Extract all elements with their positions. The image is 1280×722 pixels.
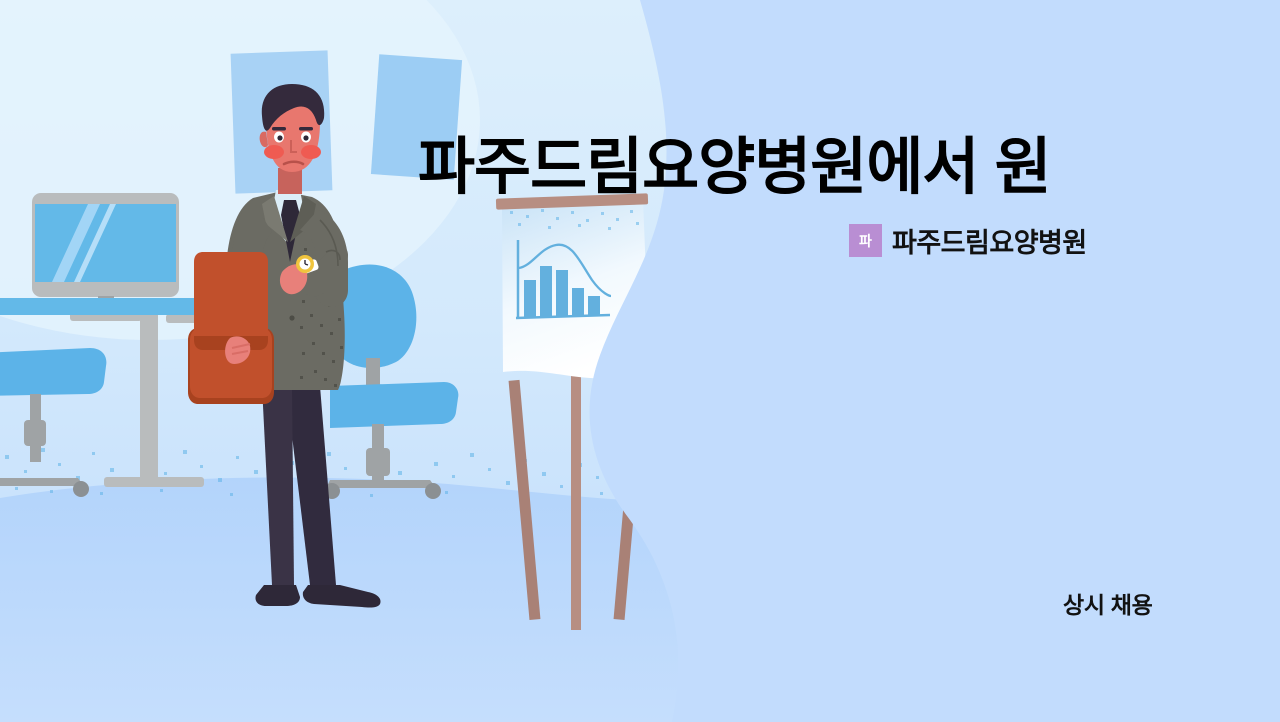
illustration-blob <box>0 0 760 722</box>
company-row[interactable]: 파 파주드림요양병원 <box>849 221 1087 260</box>
job-posting-banner: 파주드림요양병원에서 원 파 파주드림요양병원 상시 채용 <box>0 0 1280 722</box>
cheek-left <box>264 145 284 159</box>
company-badge: 파 <box>849 224 882 257</box>
cheek-right <box>301 145 321 159</box>
page-title: 파주드림요양병원에서 원 <box>418 131 1178 204</box>
office-illustration-svg <box>0 0 760 722</box>
briefcase <box>188 252 274 404</box>
easel-leg-center <box>571 370 581 630</box>
office-illustration <box>0 0 760 722</box>
shoe-left <box>255 585 300 606</box>
company-name: 파주드림요양병원 <box>892 221 1087 260</box>
jacket-button <box>289 315 294 320</box>
employment-type-label: 상시 채용 <box>1063 586 1153 620</box>
